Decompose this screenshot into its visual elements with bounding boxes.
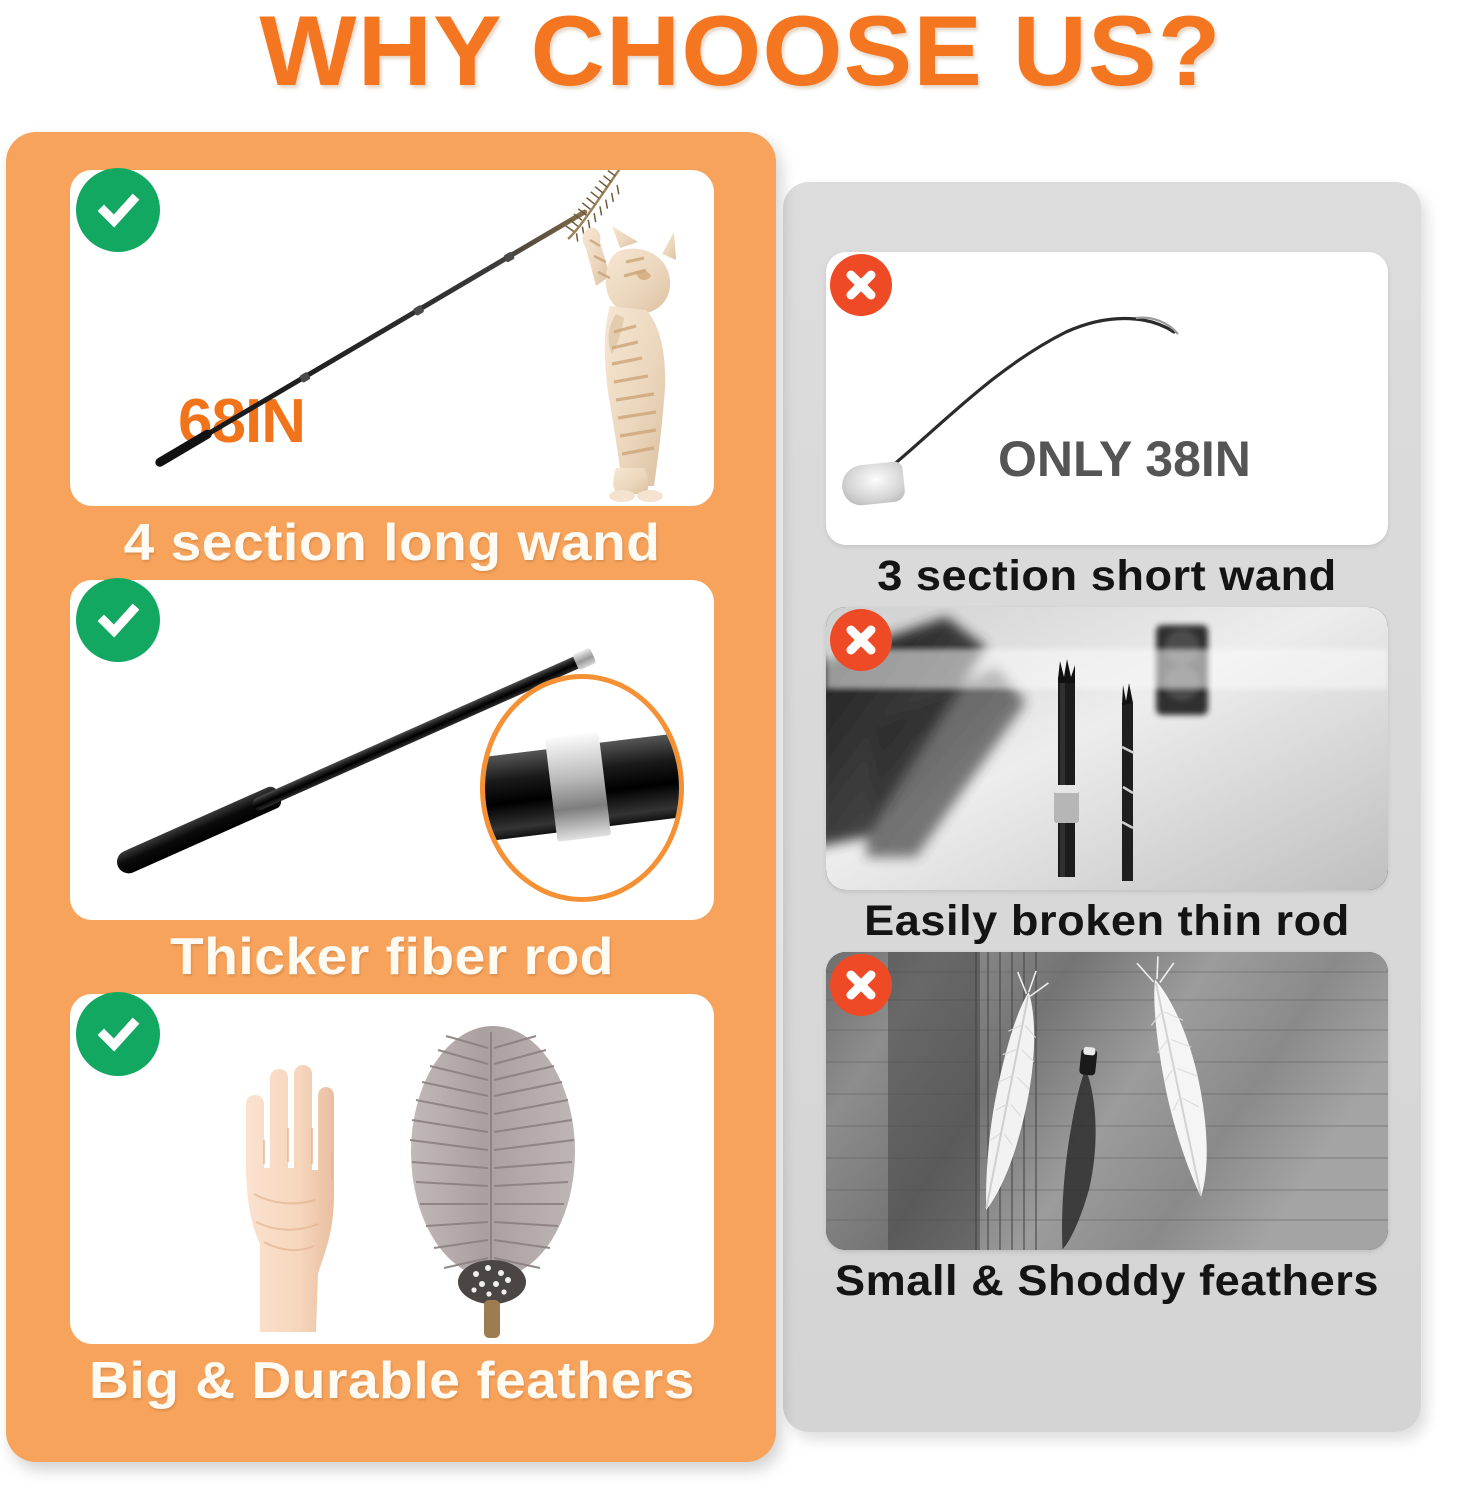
length-label: ONLY 38IN [998, 434, 1251, 484]
drawback-image-card [826, 952, 1388, 1250]
check-icon [76, 578, 160, 662]
rod-joint [503, 251, 515, 262]
check-icon [76, 168, 160, 252]
good-feature-list: 68IN [70, 170, 714, 1418]
hand-scale-illustration [220, 1044, 348, 1334]
cross-icon [830, 954, 892, 1016]
list-item: Small & Shoddy feathers [826, 952, 1388, 1312]
bad-feature-list: ONLY 38IN 3 section short wand [826, 252, 1388, 1312]
drawback-image-card [826, 607, 1388, 890]
feature-caption: 4 section long wand [51, 506, 734, 580]
long-wand-illustration [155, 209, 588, 467]
hand-holding-wand [840, 461, 906, 507]
list-item: 68IN [70, 170, 714, 580]
rod-joint [299, 371, 311, 382]
cat-illustration [550, 214, 700, 504]
page-title: WHY CHOOSE US? [0, 0, 1481, 104]
feature-caption: Big & Durable feathers [51, 1344, 734, 1418]
list-item: Easily broken thin rod [826, 607, 1388, 952]
rod-joint [412, 304, 424, 315]
ostrich-feather-illustration [388, 1016, 598, 1338]
list-item: ONLY 38IN 3 section short wand [826, 252, 1388, 607]
list-item: Big & Durable feathers [70, 994, 714, 1418]
cross-icon [830, 254, 892, 316]
feature-image-card: 68IN [70, 170, 714, 506]
small-feathers-photo [826, 952, 1388, 1250]
drawback-caption: 3 section short wand [812, 545, 1402, 607]
joint-zoom-callout [480, 674, 684, 902]
list-item: Thicker fiber rod [70, 580, 714, 994]
broken-rod-photo [826, 607, 1388, 890]
cross-icon [830, 609, 892, 671]
drawback-caption: Easily broken thin rod [812, 890, 1402, 952]
feature-caption: Thicker fiber rod [51, 920, 734, 994]
check-icon [76, 992, 160, 1076]
drawback-image-card: ONLY 38IN [826, 252, 1388, 545]
feature-image-card [70, 994, 714, 1344]
feature-image-card [70, 580, 714, 920]
drawback-caption: Small & Shoddy feathers [812, 1250, 1402, 1312]
